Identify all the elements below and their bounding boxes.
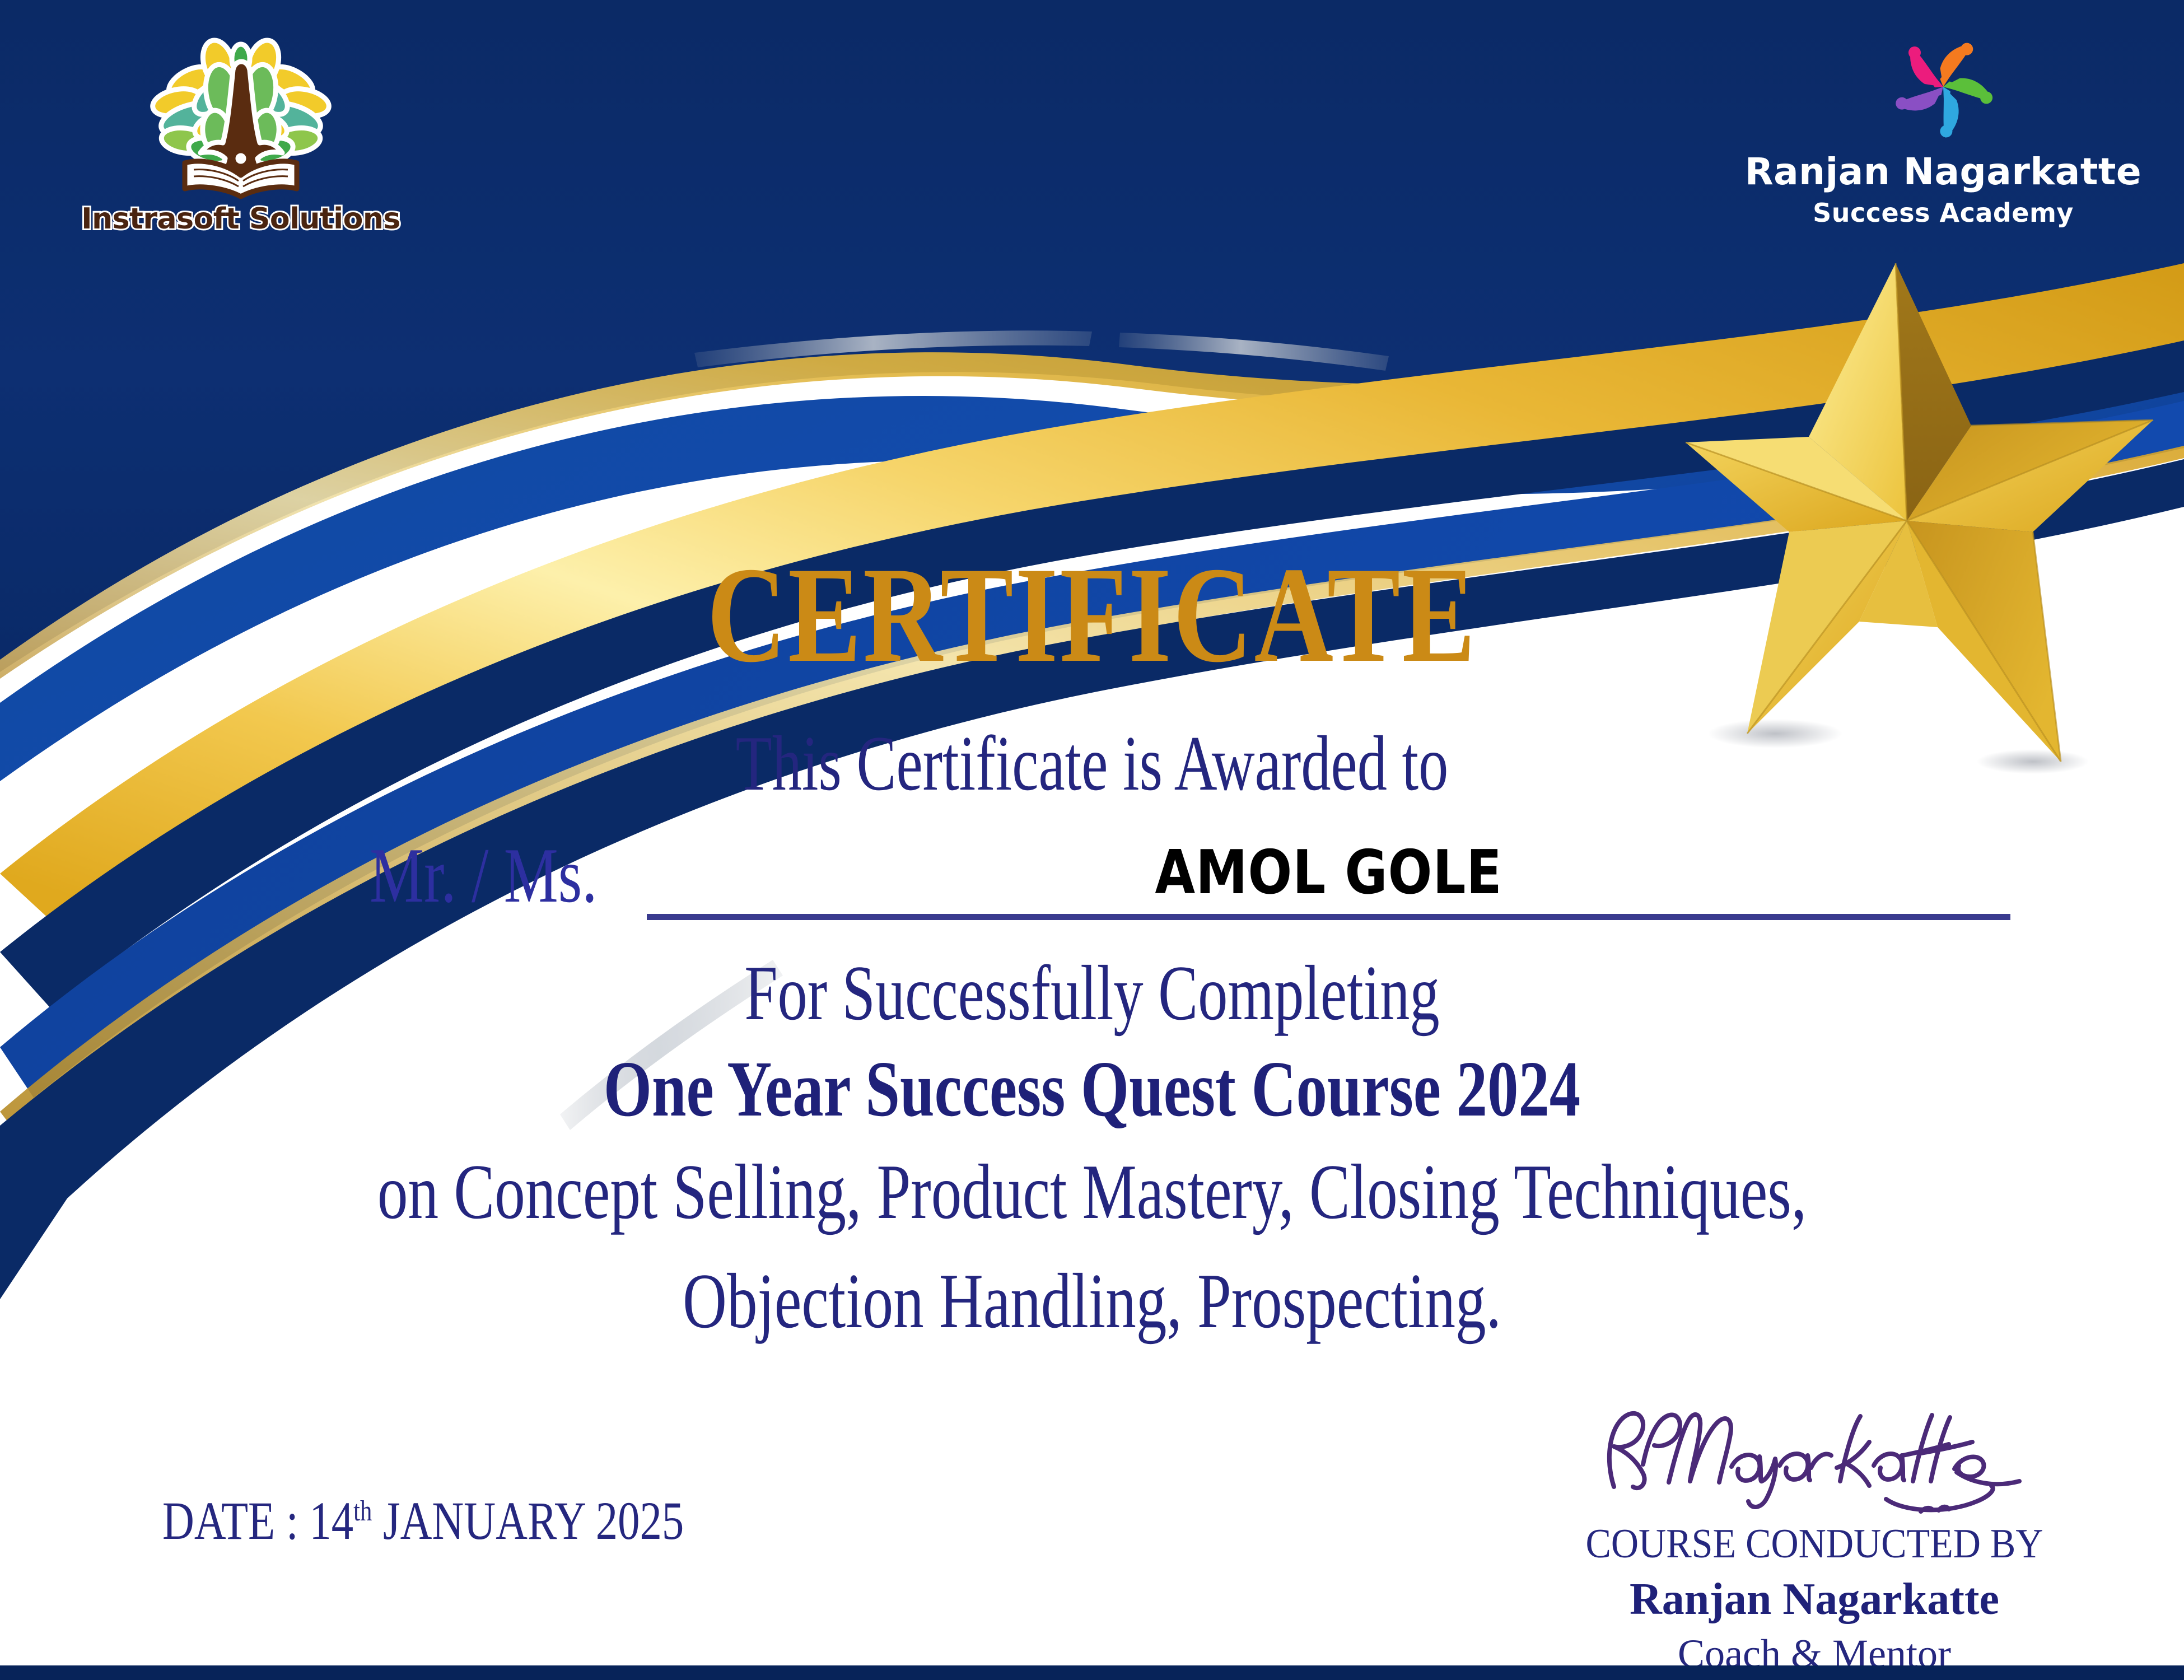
conductor-name: Ranjan Nagarkatte [1562,1575,2066,1624]
date-ordinal: th [353,1495,372,1527]
recipient-name: AMOL GOLE [742,843,1915,903]
pinwheel-people-icon [1879,28,2008,146]
salutation-label: Mr. / Ms. [370,834,598,917]
completing-line: For Successfully Completing [262,952,1922,1034]
issue-date: DATE : 14th JANUARY 2025 [162,1494,684,1548]
page-title: CERTIFICATE [218,546,1966,683]
topics-line-2: Objection Handling, Prospecting. [240,1260,1944,1342]
date-day: 14 [309,1491,353,1551]
signature-block: COURSE CONDUCTED BY Ranjan Nagarkatte Co… [1562,1397,2066,1677]
gold-3d-star-icon [1674,241,2167,778]
date-label: DATE : [162,1491,309,1551]
course-title: One Year Success Quest Course 2024 [240,1047,1944,1131]
recipient-name-rule [647,914,2010,920]
handwritten-signature-icon [1585,1397,2044,1520]
success-academy-logo: Ranjan Nagarkatte Success Academy [1747,28,2139,252]
instrasoft-logo: Instrasoft Solutions [84,31,398,255]
conducted-by-label: COURSE CONDUCTED BY [1583,1522,2046,1567]
date-rest: JANUARY 2025 [372,1491,684,1551]
bottom-accent-bar [0,1665,2184,1680]
awarded-to-line: This Certificate is Awarded to [262,722,1922,805]
academy-logo-subtitle: Success Academy [1813,198,2074,228]
topics-line-1: on Concept Selling, Product Mastery, Clo… [240,1151,1944,1233]
academy-logo-name: Ranjan Nagarkatte [1745,150,2141,193]
instrasoft-logo-text: Instrasoft Solutions [81,202,400,236]
tree-book-icon [129,31,353,199]
